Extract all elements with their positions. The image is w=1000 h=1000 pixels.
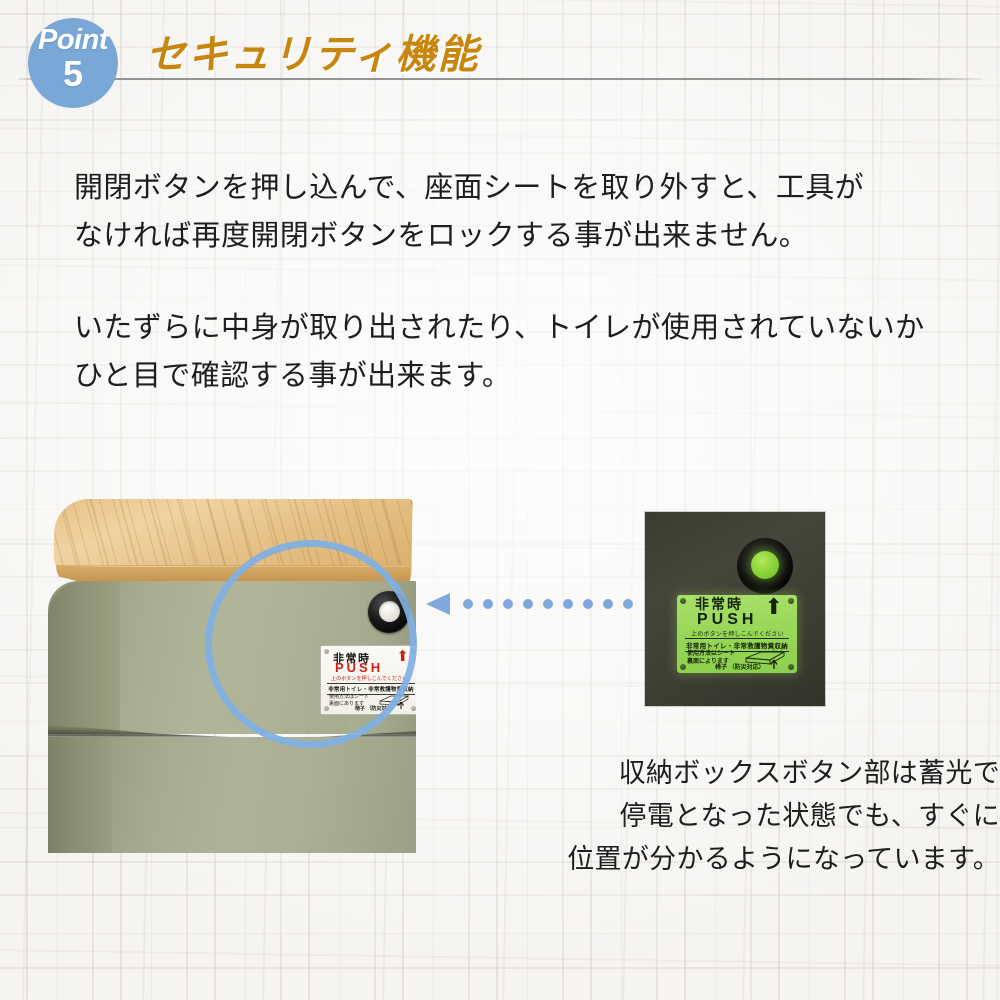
body-paragraph-2: いたずらに中身が取り出されたり、トイレが使用されていないか ひと目で確認する事が… [74, 303, 994, 399]
connector-dot [563, 599, 573, 609]
connector-dot [623, 599, 633, 609]
point-badge-number: 5 [28, 56, 118, 92]
connector-dot [583, 599, 593, 609]
arrowhead-icon [426, 593, 450, 615]
cabinet-lower-left-curve [48, 737, 112, 853]
plate-subtext: 上のボタンを押しこんでください [691, 629, 784, 638]
plate-screw-icon [411, 706, 416, 711]
connector-dot [503, 599, 513, 609]
connector-dot [463, 599, 473, 609]
svg-text:シート: シート [772, 647, 784, 652]
product-photo-darkness: 非常時 ⬆ PUSH 上のボタンを押しこんでください 非常用トイレ・非常救護物資… [645, 512, 825, 706]
connector-dot [543, 599, 553, 609]
plate-screw-icon [680, 598, 686, 604]
plate-push-label: PUSH [697, 612, 757, 628]
up-arrow-icon: ⬆ [765, 596, 783, 618]
point-badge-word: Point [28, 26, 118, 55]
point-badge: Point 5 [28, 18, 118, 108]
connector-dot [483, 599, 493, 609]
plate-screw-icon [788, 598, 794, 604]
connector-arrow [424, 590, 644, 618]
connector-dot [523, 599, 533, 609]
glow-button-cap [751, 551, 779, 579]
plate-brand-label: 椅子 （防災対応） [715, 662, 765, 671]
page-title: セキュリティ機能 [146, 22, 480, 80]
page-header: Point 5 セキュリティ機能 [0, 0, 1000, 100]
plate-screw-icon [680, 664, 686, 670]
photo-caption: 収納ボックスボタン部は蓄光で 停電となった状態でも、すぐに 位置が分かるようにな… [520, 752, 1000, 881]
page-root: Point 5 セキュリティ機能 開閉ボタンを押し込んで、座面シートを取り外すと… [0, 0, 1000, 1000]
highlight-circle [205, 540, 417, 748]
cabinet-upper-left-curve [48, 581, 120, 734]
connector-dot [603, 599, 613, 609]
plate-screw-icon [788, 664, 794, 670]
body-paragraph-1: 開閉ボタンを押し込んで、座面シートを取り外すと、工具が なければ再度開閉ボタンを… [74, 163, 974, 259]
glow-push-button[interactable] [737, 538, 793, 594]
instruction-plate-glowing: 非常時 ⬆ PUSH 上のボタンを押しこんでください 非常用トイレ・非常救護物資… [677, 595, 797, 673]
